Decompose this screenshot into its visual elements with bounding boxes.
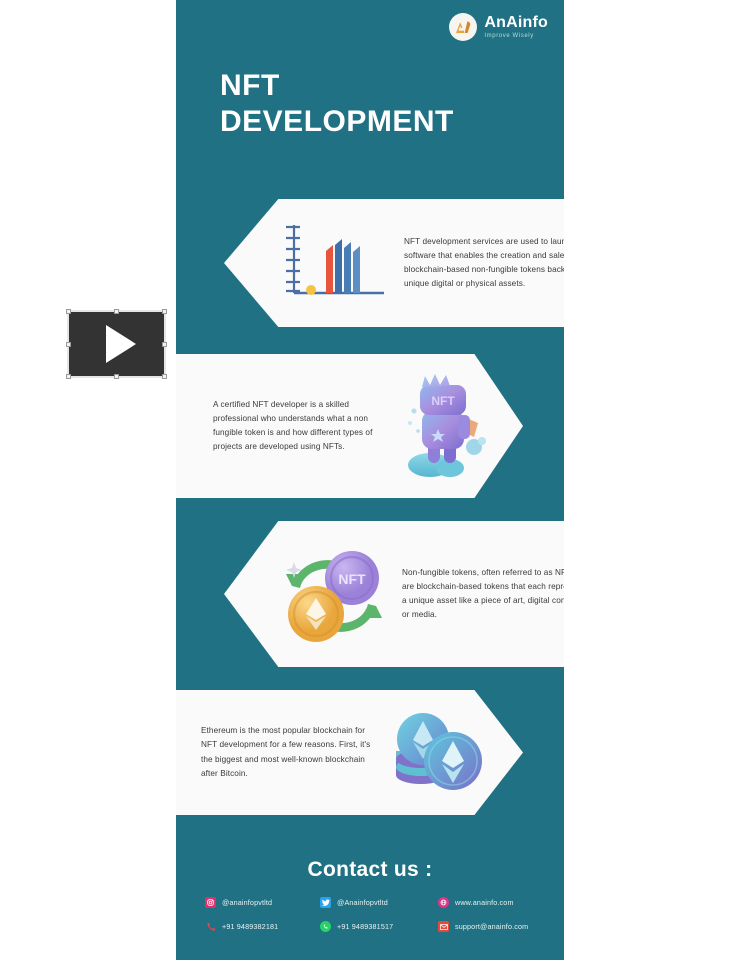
- content-block-text: Ethereum is the most popular blockchain …: [201, 724, 379, 780]
- resize-handle-middle-left[interactable]: [66, 342, 71, 347]
- contact-label: @anainfopvtltd: [222, 898, 272, 907]
- contact-label: www.anainfo.com: [455, 898, 514, 907]
- video-placeholder[interactable]: [67, 310, 166, 378]
- contact-label: support@anainfo.com: [455, 922, 528, 931]
- play-icon[interactable]: [106, 325, 136, 363]
- email-icon: [438, 921, 449, 932]
- resize-handle-top-center[interactable]: [114, 309, 119, 314]
- svg-text:NFT: NFT: [431, 394, 455, 408]
- ethereum-coins-illustration: [379, 703, 499, 803]
- resize-handle-bottom-right[interactable]: [162, 374, 167, 379]
- page-canvas: AnAinfo Improve Wisely NFT DEVELOPMENT: [0, 0, 741, 960]
- content-block-text: Non-fungible tokens, often referred to a…: [402, 566, 564, 622]
- resize-handle-bottom-center[interactable]: [114, 374, 119, 379]
- contact-grid: @anainfopvtltd @Anainfopvtltd: [205, 897, 535, 932]
- content-block-certified-nft-developer: A certified NFT developer is a skilled p…: [176, 354, 523, 498]
- phone-icon: [205, 921, 216, 932]
- contact-label: @Anainfopvtltd: [337, 898, 388, 907]
- brand-logo[interactable]: AnAinfo Improve Wisely: [449, 13, 548, 41]
- contact-item-email[interactable]: support@anainfo.com: [438, 921, 535, 932]
- contact-item-phone[interactable]: +91 9489382181: [205, 921, 320, 932]
- globe-icon: [438, 897, 449, 908]
- infographic-poster: AnAinfo Improve Wisely NFT DEVELOPMENT: [176, 0, 564, 960]
- page-title-line1: NFT: [220, 68, 454, 104]
- logo-name: AnAinfo: [484, 15, 548, 31]
- page-title-line2: DEVELOPMENT: [220, 104, 454, 140]
- contact-section: Contact us : @anainfopvtltd: [176, 828, 564, 960]
- logo-tagline: Improve Wisely: [484, 33, 548, 39]
- whatsapp-icon: [320, 921, 331, 932]
- contact-label: +91 9489381517: [337, 922, 393, 931]
- content-block-text: NFT development services are used to lau…: [404, 235, 564, 291]
- content-block-text: A certified NFT developer is a skilled p…: [213, 398, 385, 454]
- content-block-nft-development-services: NFT development services are used to lau…: [224, 199, 564, 327]
- contact-label: +91 9489382181: [222, 922, 278, 931]
- resize-handle-middle-right[interactable]: [162, 342, 167, 347]
- resize-handle-top-left[interactable]: [66, 309, 71, 314]
- contact-item-whatsapp[interactable]: +91 9489381517: [320, 921, 438, 932]
- content-block-non-fungible-tokens: NFT Non-fungible tokens, often referred …: [224, 521, 564, 667]
- instagram-icon: [205, 897, 216, 908]
- bar-chart-illustration: [270, 221, 400, 305]
- svg-text:NFT: NFT: [338, 571, 366, 587]
- nft-ethereum-exchange-illustration: NFT: [268, 540, 400, 648]
- twitter-icon: [320, 897, 331, 908]
- contact-item-instagram[interactable]: @anainfopvtltd: [205, 897, 320, 908]
- resize-handle-top-right[interactable]: [162, 309, 167, 314]
- content-block-ethereum-blockchain: Ethereum is the most popular blockchain …: [176, 690, 523, 815]
- page-title: NFT DEVELOPMENT: [220, 68, 454, 140]
- logo-mark-icon: [449, 13, 477, 41]
- resize-handle-bottom-left[interactable]: [66, 374, 71, 379]
- contact-title: Contact us :: [176, 858, 564, 882]
- contact-item-twitter[interactable]: @Anainfopvtltd: [320, 897, 438, 908]
- contact-item-website[interactable]: www.anainfo.com: [438, 897, 535, 908]
- nft-character-illustration: NFT: [387, 371, 505, 481]
